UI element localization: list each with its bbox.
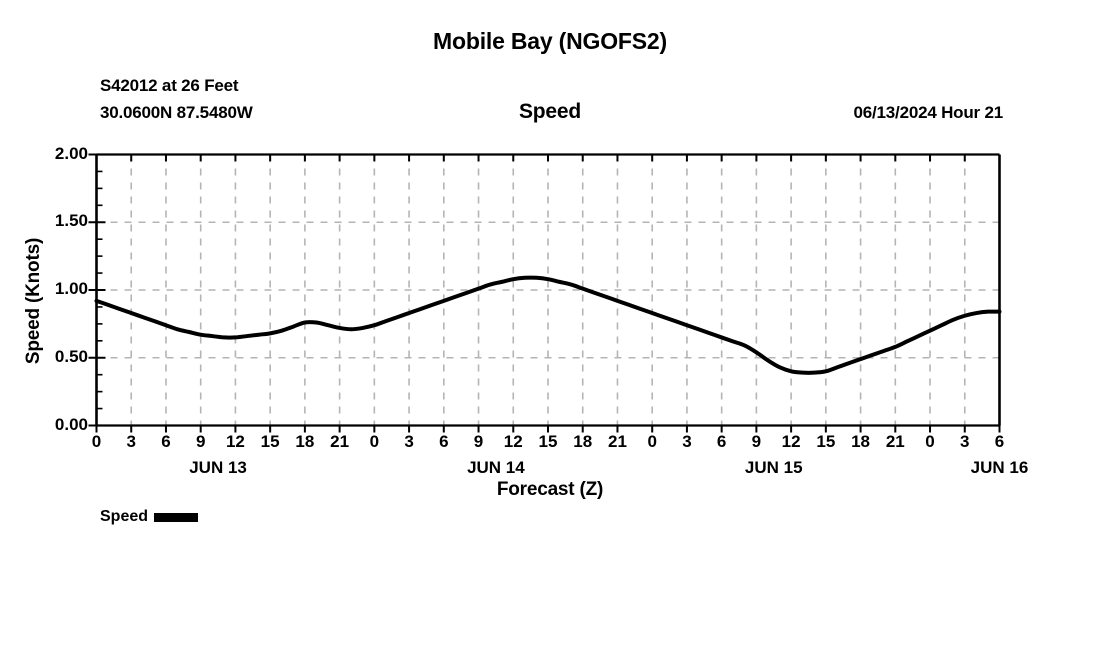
- x-tick-label: 12: [774, 432, 808, 452]
- x-tick-label: 3: [114, 432, 148, 452]
- x-day-label: JUN 14: [436, 458, 556, 478]
- y-tick-label: 1.00: [55, 279, 88, 299]
- grid-lines: [97, 155, 1000, 426]
- legend-label: Speed: [100, 508, 148, 526]
- x-tick-label: 12: [496, 432, 530, 452]
- x-day-label: JUN 15: [714, 458, 834, 478]
- x-tick-label: 6: [983, 432, 1017, 452]
- x-tick-label: 9: [739, 432, 773, 452]
- x-tick-label: 18: [288, 432, 322, 452]
- x-tick-label: 0: [913, 432, 947, 452]
- x-tick-label: 0: [80, 432, 114, 452]
- y-tick-label: 1.50: [55, 211, 88, 231]
- x-tick-label: 3: [948, 432, 982, 452]
- x-tick-label: 0: [635, 432, 669, 452]
- x-tick-label: 15: [809, 432, 843, 452]
- x-tick-label: 6: [705, 432, 739, 452]
- x-tick-label: 18: [566, 432, 600, 452]
- x-tick-label: 6: [427, 432, 461, 452]
- x-tick-label: 18: [844, 432, 878, 452]
- x-tick-label: 9: [184, 432, 218, 452]
- legend: Speed: [100, 508, 198, 526]
- x-tick-label: 12: [218, 432, 252, 452]
- x-day-label: JUN 13: [158, 458, 278, 478]
- x-tick-label: 6: [149, 432, 183, 452]
- chart-canvas: Mobile Bay (NGOFS2) S42012 at 26 Feet 30…: [0, 0, 1100, 650]
- x-tick-label: 15: [531, 432, 565, 452]
- x-tick-label: 21: [323, 432, 357, 452]
- x-tick-label: 21: [600, 432, 634, 452]
- x-tick-label: 15: [253, 432, 287, 452]
- x-tick-label: 21: [878, 432, 912, 452]
- x-tick-label: 3: [670, 432, 704, 452]
- x-day-label: JUN 16: [940, 458, 1060, 478]
- legend-swatch: [154, 513, 198, 522]
- tick-marks: [89, 155, 1000, 433]
- x-tick-label: 9: [462, 432, 496, 452]
- x-tick-label: 3: [392, 432, 426, 452]
- x-tick-label: 0: [357, 432, 391, 452]
- y-tick-label: 2.00: [55, 144, 88, 164]
- y-tick-label: 0.50: [55, 347, 88, 367]
- plot-area: [0, 0, 1100, 650]
